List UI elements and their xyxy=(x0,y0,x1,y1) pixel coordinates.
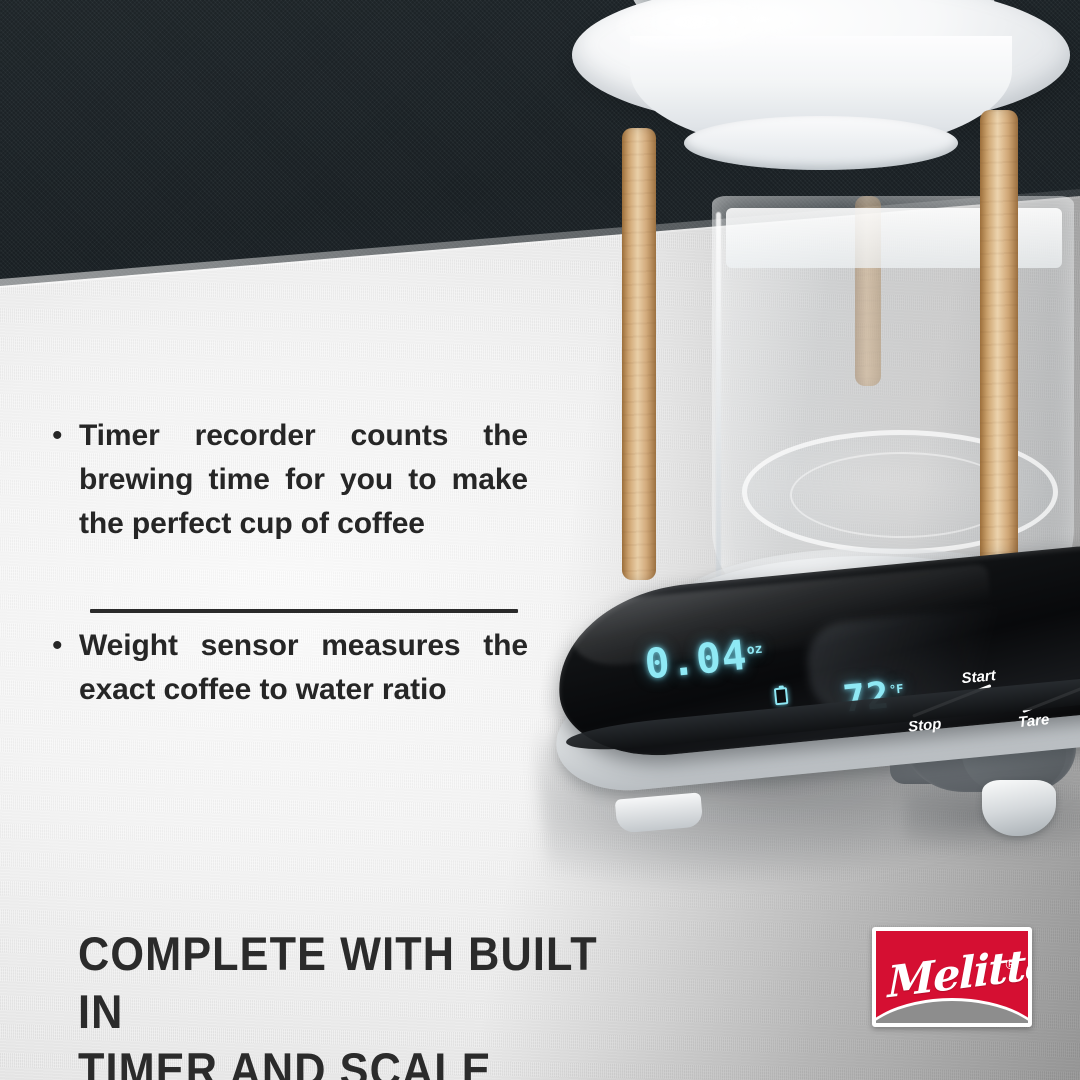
bullet-marker-icon: • xyxy=(52,414,79,458)
headline-line-1: COMPLETE WITH BUILT IN xyxy=(78,925,648,1041)
weight-readout: 0.04oz xyxy=(643,629,765,688)
weight-value: 0.04 xyxy=(643,631,750,689)
tare-label: Tare xyxy=(1017,711,1050,731)
brew-cone-highlight xyxy=(616,0,796,58)
foot-bracket-tip xyxy=(982,780,1056,836)
bullet-item-weight: • Weight sensor measures the exact coffe… xyxy=(52,624,528,712)
logo-red-plate: Melitta ® xyxy=(872,927,1032,1027)
battery-icon xyxy=(774,687,789,705)
start-label: Start xyxy=(961,667,997,687)
brew-cone-ring xyxy=(684,116,958,170)
headline: COMPLETE WITH BUILT IN TIMER AND SCALE xyxy=(78,925,648,1080)
bullet-text-timer: Timer recorder counts the brewing time f… xyxy=(79,414,528,546)
melitta-logo: Melitta ® xyxy=(872,927,1032,1027)
registered-trademark-icon: ® xyxy=(1006,957,1016,971)
bullet-divider-rule xyxy=(90,609,518,613)
headline-line-2: TIMER AND SCALE xyxy=(78,1041,648,1080)
weight-unit: oz xyxy=(746,642,763,658)
bullet-text-weight: Weight sensor measures the exact coffee … xyxy=(79,624,528,712)
feature-bullet-list: • Timer recorder counts the brewing time… xyxy=(52,414,528,712)
carafe-left-edge-highlight xyxy=(716,212,721,616)
bullet-item-timer: • Timer recorder counts the brewing time… xyxy=(52,414,528,546)
bullet-marker-icon: • xyxy=(52,624,79,668)
